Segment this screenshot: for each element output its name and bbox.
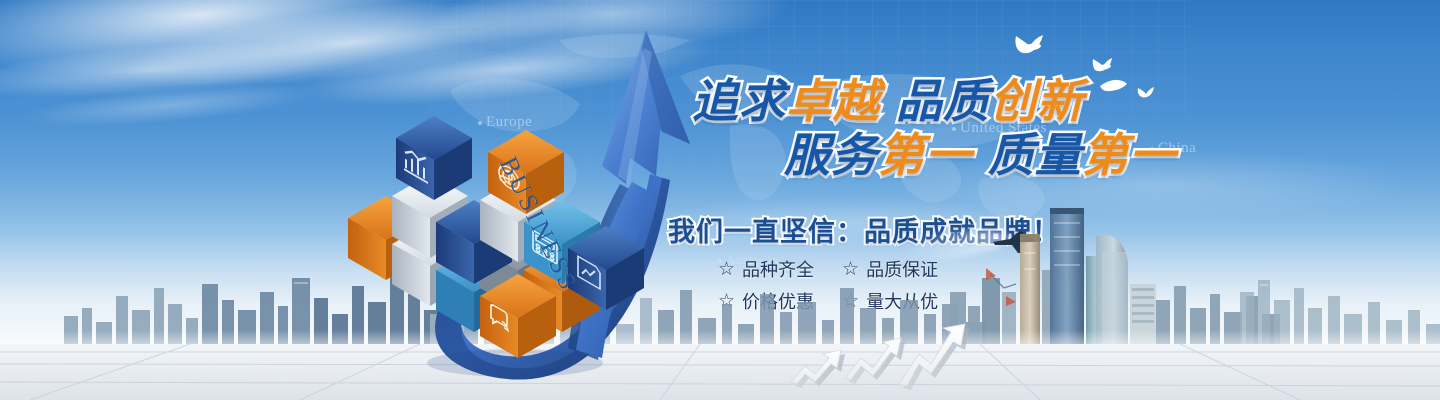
cloud-shape <box>19 75 321 135</box>
feature-item: ☆ 品质保证 <box>842 256 938 282</box>
white-arrows-graphic <box>775 322 975 400</box>
star-outline-icon: ☆ <box>842 260 859 279</box>
headline-seg-diyi-2: 第一 <box>1082 128 1176 182</box>
feature-item: ☆ 量大从优 <box>842 288 938 314</box>
star-outline-icon: ☆ <box>718 260 735 279</box>
headline-seg-zhuiqiu: 追求 <box>692 74 786 128</box>
dove-icon <box>1012 32 1046 54</box>
promo-banner: Europe United States China Australia 追求卓… <box>0 0 1440 400</box>
plaza-ground <box>0 344 1440 400</box>
feature-label: 品质保证 <box>866 256 938 282</box>
feature-label: 价格优惠 <box>742 288 814 314</box>
headline-line-1: 追求卓越品质创新 <box>692 78 1212 124</box>
feature-label: 量大从优 <box>866 288 938 314</box>
headline-seg-diyi-1: 第一 <box>878 128 972 182</box>
headline-seg-zhiliang: 质量 <box>988 128 1082 182</box>
headline-seg-pinzhi: 品质 <box>896 74 990 128</box>
feature-list: ☆ 品种齐全 ☆ 品质保证 ☆ 价格优惠 ☆ 量大从优 <box>718 256 938 314</box>
headline-seg-chuangxin: 创新 <box>990 74 1084 128</box>
dove-icon <box>1090 56 1114 72</box>
star-outline-icon: ☆ <box>842 292 859 311</box>
headline: 追求卓越品质创新 服务第一质量第一 <box>692 78 1212 178</box>
headline-seg-zhuoyue: 卓越 <box>786 74 880 128</box>
cloud-shape <box>0 33 341 107</box>
plaza-tile-lines <box>0 344 1440 400</box>
airplane-icon <box>990 228 1036 254</box>
headline-seg-fuwu: 服务 <box>784 128 878 182</box>
feature-item: ☆ 品种齐全 <box>718 256 814 282</box>
headline-line-2: 服务第一质量第一 <box>784 132 1212 178</box>
feature-label: 品种齐全 <box>742 256 814 282</box>
feature-item: ☆ 价格优惠 <box>718 288 814 314</box>
star-outline-icon: ☆ <box>718 292 735 311</box>
business-cube-artwork <box>330 18 700 388</box>
